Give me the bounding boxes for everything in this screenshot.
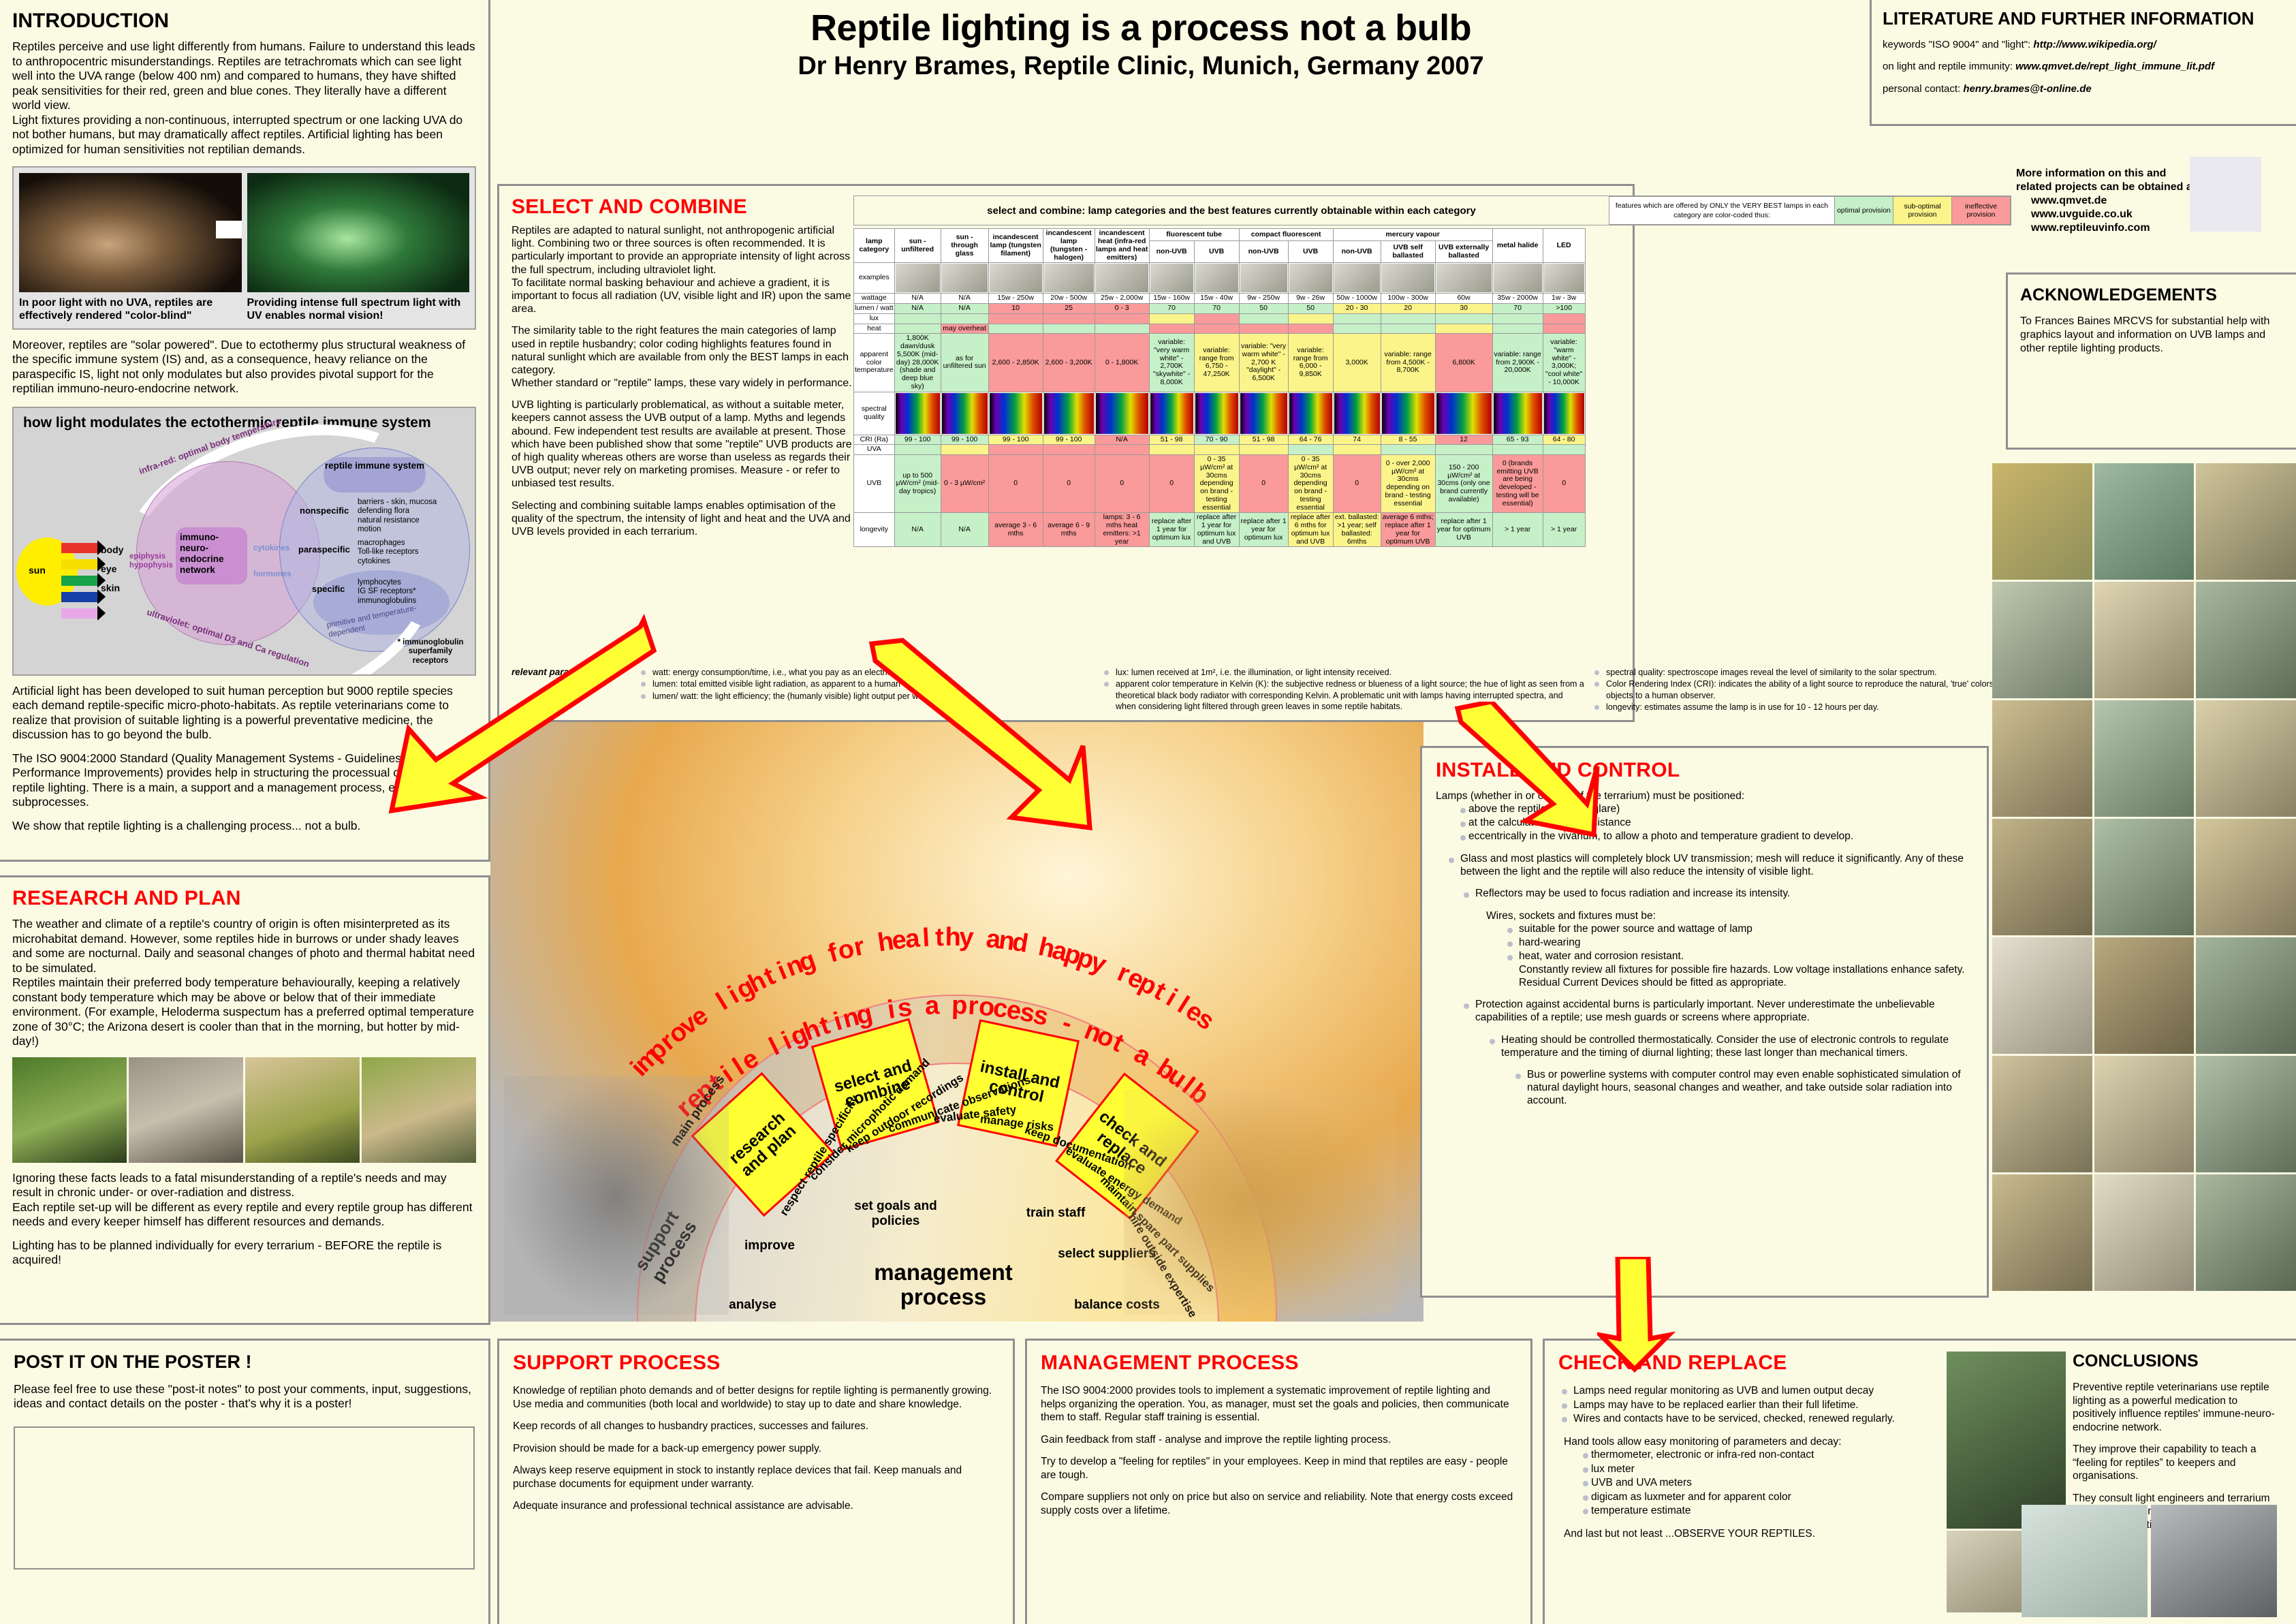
terrarium-photo xyxy=(2094,700,2195,817)
terrarium-photo xyxy=(2196,582,2296,698)
table-group-header: incandescent lamp (tungsten filament) xyxy=(988,229,1043,263)
table-cell xyxy=(1333,324,1381,334)
spectrum-image xyxy=(1381,392,1435,435)
table-cell: 70 xyxy=(1149,304,1194,314)
table-row-label: longevity xyxy=(854,513,895,547)
table-cell xyxy=(894,445,941,455)
table-row-label: examples xyxy=(854,263,895,294)
management-subprocess-label: train staff xyxy=(1005,1206,1107,1221)
meter-photo-row xyxy=(12,1057,476,1163)
table-cell: 99 - 100 xyxy=(894,435,941,445)
terrarium-photo xyxy=(2196,1056,2296,1172)
literature-line-2-label: on light and reptile immunity: xyxy=(1883,61,2013,72)
intro-paragraph-2: Light fixtures providing a non-continuou… xyxy=(12,113,476,157)
table-cell: N/A xyxy=(1095,435,1149,445)
conclusions-heading: CONCLUSIONS xyxy=(2073,1352,2277,1371)
table-cell: variable: "very warm white" - 2,700 K "d… xyxy=(1239,334,1288,392)
poster-title: Reptile lighting is a process not a bulb xyxy=(518,7,1764,49)
terrarium-photo xyxy=(1992,1056,2092,1172)
table-cell: >100 xyxy=(1543,304,1585,314)
table-cell: variable: range from 4,500K - 8,700K xyxy=(1381,334,1435,392)
table-group-header: metal halide xyxy=(1492,229,1543,263)
table-cell xyxy=(1149,313,1194,324)
table-row-label: UVA xyxy=(854,445,895,455)
check-tool-item: thermometer, electronic or infra-red non… xyxy=(1576,1448,1940,1462)
table-cell: N/A xyxy=(941,294,988,304)
support-paragraph-5: Always keep reserve equipment in stock t… xyxy=(513,1464,999,1490)
table-cell: 70 xyxy=(1194,304,1239,314)
install-bus-bullet: Bus or powerline systems with computer c… xyxy=(1512,1069,1973,1108)
lamp-example-photo xyxy=(1333,263,1381,294)
table-cell: 99 - 100 xyxy=(1043,435,1095,445)
table-cell: 20 xyxy=(1381,304,1435,314)
terrarium-photo xyxy=(2094,463,2195,580)
support-process-panel: SUPPORT PROCESS Knowledge of reptilian p… xyxy=(497,1339,1015,1624)
table-cell xyxy=(1194,324,1239,334)
support-paragraph-6: Adequate insurance and professional tech… xyxy=(513,1499,999,1513)
table-legend: features which are offered by ONLY the V… xyxy=(1609,196,2011,225)
table-group-header: sun - unfiltered xyxy=(894,229,941,263)
arrow-down-install-icon xyxy=(1420,0,1421,1)
table-cell: 50w - 1000w xyxy=(1333,294,1381,304)
support-paragraph-1: Knowledge of reptilian photo demands and… xyxy=(513,1384,999,1398)
lamp-example-photo xyxy=(894,263,941,294)
check-text-column: CHECK AND REPLACE Lamps need regular mon… xyxy=(1558,1352,1940,1612)
table-cell: 0 (brands emitting UVB are being develop… xyxy=(1492,455,1543,513)
management-process-panel: MANAGEMENT PROCESS The ISO 9004:2000 pro… xyxy=(1025,1339,1532,1624)
install-bullet: suitable for the power source and wattag… xyxy=(1504,923,1973,936)
table-cell xyxy=(1288,313,1333,324)
install-glass-bullet: Glass and most plastics will completely … xyxy=(1445,853,1973,879)
table-cell: 0 - 35 µW/cm² at 30cms depending on bran… xyxy=(1288,455,1333,513)
spectrum-image xyxy=(1239,392,1288,435)
arrow-to-install-icon xyxy=(865,637,1097,834)
table-group-header: fluorescent tube xyxy=(1149,229,1239,241)
table-group-header: incandescent lamp (tungsten - halogen) xyxy=(1043,229,1095,263)
literature-heading: LITERATURE AND FURTHER INFORMATION xyxy=(1883,8,2285,29)
spectrum-image xyxy=(1194,392,1239,435)
infrared-thermometer-photo xyxy=(245,1057,360,1163)
terrarium-photo-strip xyxy=(1992,463,2296,1291)
table-cell: 9w - 250w xyxy=(1239,294,1288,304)
terrarium-photo xyxy=(2196,463,2296,580)
postit-note-area[interactable] xyxy=(14,1426,475,1570)
table-cell: N/A xyxy=(941,304,988,314)
table-row-label: lumen / watt xyxy=(854,304,895,314)
table-cell: 2,600 - 3,200K xyxy=(1043,334,1095,392)
support-paragraph-2: Use media and communities (both local an… xyxy=(513,1398,999,1411)
table-cell xyxy=(1149,445,1194,455)
table-cell xyxy=(1543,445,1585,455)
table-cell: lamps: 3 - 6 mths heat emitters: >1 year xyxy=(1095,513,1149,547)
table-row: UVA xyxy=(854,445,1586,455)
lamp-example-photo xyxy=(1149,263,1194,294)
lamp-example-photo xyxy=(1239,263,1288,294)
reptile-line-drawing xyxy=(2190,157,2261,232)
luxmeter-photo xyxy=(12,1057,127,1163)
table-cell: 10 xyxy=(988,304,1043,314)
table-cell xyxy=(1435,324,1492,334)
table-row: UVBup to 500 µW/cm² (mid-day tropics)0 -… xyxy=(854,455,1586,513)
table-cell: 0 - over 2,000 µW/cm² at 30cms depending… xyxy=(1381,455,1435,513)
table-cell xyxy=(1381,313,1435,324)
parameter-item: Color Rendering Index (CRI): indicates t… xyxy=(1591,678,2061,701)
literature-line-3: personal contact: henry.brames@t-online.… xyxy=(1883,83,2285,95)
intro-paragraph-1: Reptiles perceive and use light differen… xyxy=(12,40,476,113)
select-paragraph-1: Reptiles are adapted to natural sunlight… xyxy=(512,224,855,277)
select-paragraph-5: UVB lighting is particularly problematic… xyxy=(512,399,855,490)
table-cell: average 3 - 6 mths xyxy=(988,513,1043,547)
table-cell xyxy=(1043,313,1095,324)
table-cell: 100w - 300w xyxy=(1381,294,1435,304)
management-process-label: management process xyxy=(851,1260,1035,1309)
gecko-dull-photo xyxy=(19,173,242,292)
iguana-right-photo xyxy=(1124,1090,1396,1315)
research-paragraph-1: The weather and climate of a reptile's c… xyxy=(12,917,476,975)
table-cell xyxy=(1043,324,1095,334)
table-cell: variable: range from 2,900K - 20,000K xyxy=(1492,334,1543,392)
table-cell xyxy=(1095,313,1149,324)
terrarium-photo xyxy=(1992,1174,2092,1291)
postit-text: Please feel free to use these "post-it n… xyxy=(14,1382,475,1411)
check-closing: And last but not least ...OBSERVE YOUR R… xyxy=(1558,1527,1940,1541)
table-cell xyxy=(1239,324,1288,334)
management-paragraph-3: Try to develop a "feeling for reptiles" … xyxy=(1041,1455,1517,1482)
table-column-header: non-UVB xyxy=(1149,241,1194,263)
table-cell: 2,600 - 2,850K xyxy=(988,334,1043,392)
immune-diagram-title: how light modulates the ectothermic rept… xyxy=(23,415,431,431)
table-cell: N/A xyxy=(894,294,941,304)
select-paragraph-6: Selecting and combining suitable lamps e… xyxy=(512,499,855,539)
literature-line-2: on light and reptile immunity: www.qmvet… xyxy=(1883,61,2285,73)
table-cell: up to 500 µW/cm² (mid-day tropics) xyxy=(894,455,941,513)
lamp-example-photo xyxy=(1435,263,1492,294)
management-paragraph-2: Gain feedback from staff - analyse and i… xyxy=(1041,1433,1517,1447)
table-cell: 0 xyxy=(1333,455,1381,513)
red-ray-icon xyxy=(61,543,98,553)
transition-arrow-icon xyxy=(216,221,242,238)
research-paragraph-4: Each reptile set-up will be different as… xyxy=(12,1200,476,1230)
table-cell: 3,000K xyxy=(1333,334,1381,392)
gecko-dull-cell: In poor light with no UVA, reptiles are … xyxy=(19,173,242,322)
table-cell xyxy=(1288,445,1333,455)
lamp-comparison-table-wrapper: select and combine: lamp categories and … xyxy=(853,196,2011,547)
support-paragraph-4: Provision should be made for a back-up e… xyxy=(513,1442,999,1456)
table-group-header: compact fluorescent xyxy=(1239,229,1333,241)
support-heading: SUPPORT PROCESS xyxy=(513,1352,999,1375)
table-group-header-row: lamp categorysun - unfilteredsun - throu… xyxy=(854,229,1586,241)
lamp-example-photo xyxy=(1492,263,1543,294)
table-row: lumen / wattN/AN/A10250 - 37070505020 - … xyxy=(854,304,1586,314)
table-row-label: UVB xyxy=(854,455,895,513)
parameters-column-3: spectral quality: spectroscope images re… xyxy=(1591,667,2061,713)
terrarium-photo xyxy=(2094,937,2195,1054)
lamp-example-photo xyxy=(988,263,1043,294)
research-heading: RESEARCH AND PLAN xyxy=(12,887,476,910)
support-paragraph-3: Keep records of all changes to husbandry… xyxy=(513,1420,999,1433)
table-cell: replace after 1 year for optimum lux xyxy=(1239,513,1288,547)
table-group-header: lamp category xyxy=(854,229,895,263)
more-info-link-2[interactable]: www.uvguide.co.uk xyxy=(2016,208,2200,221)
install-burns-bullet: Protection against accidental burns is p… xyxy=(1460,999,1973,1025)
table-cell: 1w - 3w xyxy=(1543,294,1585,304)
table-row: CRI (Ra)99 - 10099 - 10099 - 10099 - 100… xyxy=(854,435,1586,445)
literature-line-2-value[interactable]: www.qmvet.de/rept_light_immune_lit.pdf xyxy=(2015,61,2214,72)
terrarium-photo xyxy=(1992,463,2092,580)
intro-paragraph-3: Moreover, reptiles are "solar powered". … xyxy=(12,338,476,396)
table-row: spectral quality xyxy=(854,392,1586,435)
table-cell: 25 xyxy=(1043,304,1095,314)
check-tool-item: temperature estimate xyxy=(1576,1504,1940,1518)
table-cell: 65 - 93 xyxy=(1492,435,1543,445)
spectrum-image xyxy=(1288,392,1333,435)
terrarium-photo xyxy=(2196,700,2296,817)
terrarium-photo xyxy=(2196,819,2296,935)
table-cell: 50 xyxy=(1239,304,1288,314)
check-bullets: Lamps need regular monitoring as UVB and… xyxy=(1558,1384,1940,1426)
table-cell xyxy=(1435,313,1492,324)
green-ray-icon xyxy=(61,576,98,586)
install-reflector-bullet: Reflectors may be used to focus radiatio… xyxy=(1460,888,1973,901)
research-and-plan-panel: RESEARCH AND PLAN The weather and climat… xyxy=(0,875,490,1325)
install-wires-lead: Wires, sockets and fixtures must be: xyxy=(1436,910,1973,923)
table-cell: 0 - 35 µW/cm² at 30cms depending on bran… xyxy=(1194,455,1239,513)
select-text-column: SELECT AND COMBINE Reptiles are adapted … xyxy=(512,196,855,538)
select-paragraph-4: Whether standard or "reptile" lamps, the… xyxy=(512,377,855,390)
terrarium-photo xyxy=(2094,1174,2195,1291)
conclusions-paragraph-2: They improve their capability to teach a… xyxy=(2073,1443,2277,1483)
table-cell: replace after 1 year for optimum lux and… xyxy=(1194,513,1239,547)
table-column-header: UVB externally ballasted xyxy=(1435,241,1492,263)
table-row-label: wattage xyxy=(854,294,895,304)
table-cell: 15w - 40w xyxy=(1194,294,1239,304)
spectrum-image xyxy=(894,392,941,435)
table-cell xyxy=(1333,313,1381,324)
table-cell: 1,800K dawn/dusk 5,500K (mid-day) 28,000… xyxy=(894,334,941,392)
management-subprocess-label: improve xyxy=(719,1238,821,1253)
install-wires-bullets: suitable for the power source and wattag… xyxy=(1436,923,1973,963)
table-cell: 99 - 100 xyxy=(988,435,1043,445)
lamp-example-photo xyxy=(941,263,988,294)
table-cell: 35w - 2000w xyxy=(1492,294,1543,304)
terrarium-photo xyxy=(2094,1056,2195,1172)
uv-meter-device-photo xyxy=(2151,1505,2277,1617)
conclusions-paragraph-1: Preventive reptile veterinarians use rep… xyxy=(2073,1381,2277,1434)
input-label-eye: eye xyxy=(101,563,116,574)
table-cell xyxy=(1149,324,1194,334)
terrarium-photo xyxy=(1992,700,2092,817)
terrarium-photo xyxy=(1992,819,2092,935)
table-column-header: UVB self ballasted xyxy=(1381,241,1435,263)
table-cell: 70 - 90 xyxy=(1194,435,1239,445)
management-subprocess-label: set goals and policies xyxy=(845,1199,947,1229)
table-cell xyxy=(894,313,941,324)
literature-line-1-label: keywords "ISO 9004" and "light": xyxy=(1883,39,2030,50)
select-paragraph-3: The similarity table to the right featur… xyxy=(512,324,855,377)
table-cell: 15w - 160w xyxy=(1149,294,1194,304)
install-bullet: heat, water and corrosion resistant. xyxy=(1504,950,1973,963)
table-group-header: incandescent heat (infra-red lamps and h… xyxy=(1095,229,1149,263)
table-cell: 20 - 30 xyxy=(1333,304,1381,314)
yellow-ray-icon xyxy=(61,559,98,569)
terrarium-photo xyxy=(2196,937,2296,1054)
table-cell xyxy=(1492,445,1543,455)
table-cell: ext. ballasted: >1 year; self ballasted:… xyxy=(1333,513,1381,547)
gecko-comparison-figure: In poor light with no UVA, reptiles are … xyxy=(12,166,476,329)
table-cell: 0 - 3 xyxy=(1095,304,1149,314)
table-group-header: sun - through glass xyxy=(941,229,988,263)
terrarium-photo xyxy=(2094,582,2195,698)
table-cell: 64 - 76 xyxy=(1288,435,1333,445)
table-cell xyxy=(1543,324,1585,334)
table-group-header: LED xyxy=(1543,229,1585,263)
table-cell: 0 xyxy=(988,455,1043,513)
acknowledgements-panel: ACKNOWLEDGEMENTS To Frances Baines MRCVS… xyxy=(2006,272,2296,450)
literature-line-3-label: personal contact: xyxy=(1883,83,1960,95)
table-cell xyxy=(1194,313,1239,324)
lamp-example-photo xyxy=(1543,263,1585,294)
table-cell xyxy=(1543,313,1585,324)
legend-suboptimal: sub-optimal provision xyxy=(1893,197,1951,224)
install-heating-bullet: Heating should be controlled thermostati… xyxy=(1486,1034,1973,1060)
lamp-example-photo xyxy=(1194,263,1239,294)
gecko-bright-photo xyxy=(247,173,470,292)
arrow-to-research-icon xyxy=(371,613,657,817)
parameter-item: lux: lumen received at 1m², i.e. the ill… xyxy=(1101,667,1584,678)
table-cell: N/A xyxy=(894,304,941,314)
legend-optimal: optimal provision xyxy=(1834,197,1893,224)
table-cell: replace after 1 year for optimum UVB xyxy=(1435,513,1492,547)
table-cell: 0 - 1,800K xyxy=(1095,334,1149,392)
table-cell: 9w - 26w xyxy=(1288,294,1333,304)
table-cell: variable: "very warm white" - 2,700K "sk… xyxy=(1149,334,1194,392)
spectrum-image xyxy=(941,392,988,435)
table-cell xyxy=(988,445,1043,455)
table-cell xyxy=(1043,445,1095,455)
table-row: lux xyxy=(854,313,1586,324)
table-row: examples xyxy=(854,263,1586,294)
check-tool-item: digicam as luxmeter and for apparent col… xyxy=(1576,1490,1940,1504)
table-row-label: heat xyxy=(854,324,895,334)
check-tool-item: lux meter xyxy=(1576,1463,1940,1476)
intro-paragraph-6: We show that reptile lighting is a chall… xyxy=(12,819,476,834)
table-row-label: CRI (Ra) xyxy=(854,435,895,445)
table-row-label: lux xyxy=(854,313,895,324)
table-group-header: mercury vapour xyxy=(1333,229,1492,241)
table-cell: N/A xyxy=(941,513,988,547)
table-cell: 70 xyxy=(1492,304,1543,314)
spectrum-image xyxy=(1333,392,1381,435)
table-cell: may overheat xyxy=(941,324,988,334)
table-cell xyxy=(894,324,941,334)
terrarium-photo xyxy=(1992,937,2092,1054)
input-label-body: body xyxy=(101,544,123,555)
acknowledgements-heading: ACKNOWLEDGEMENTS xyxy=(2020,285,2284,305)
table-cell: variable: range from 6,000 - 9,850K xyxy=(1288,334,1333,392)
table-cell: 20w - 500w xyxy=(1043,294,1095,304)
select-heading: SELECT AND COMBINE xyxy=(512,196,855,219)
arrow-install-down-icon xyxy=(1451,702,1601,838)
gecko-bright-caption: Providing intense full spectrum light wi… xyxy=(247,296,470,322)
spectrum-image xyxy=(1149,392,1194,435)
lamp-example-photo xyxy=(1288,263,1333,294)
arrow-to-check-icon xyxy=(1597,1257,1679,1373)
management-paragraph-4: Compare suppliers not only on price but … xyxy=(1041,1490,1517,1517)
table-cell: 0 xyxy=(1095,455,1149,513)
lamp-example-photo xyxy=(1043,263,1095,294)
table-row: longevityN/AN/Aaverage 3 - 6 mthsaverage… xyxy=(854,513,1586,547)
select-paragraph-2: To facilitate normal basking behaviour a… xyxy=(512,277,855,316)
blue-ray-icon xyxy=(61,592,98,602)
table-cell: 51 - 98 xyxy=(1239,435,1288,445)
lamp-comparison-table: lamp categorysun - unfilteredsun - throu… xyxy=(853,228,1586,547)
literature-line-1: keywords "ISO 9004" and "light": http://… xyxy=(1883,39,2285,51)
table-cell xyxy=(941,313,988,324)
check-tool-item: UVB and UVA meters xyxy=(1576,1476,1940,1490)
introduction-heading: INTRODUCTION xyxy=(12,10,476,33)
table-cell: 12 xyxy=(1435,435,1492,445)
install-bullet: hard-wearing xyxy=(1504,937,1973,950)
table-cell xyxy=(988,313,1043,324)
table-cell: 64 - 80 xyxy=(1543,435,1585,445)
table-cell: 0 xyxy=(1543,455,1585,513)
table-title: select and combine: lamp categories and … xyxy=(854,198,1609,223)
table-cell xyxy=(1381,445,1435,455)
table-cell: 0 xyxy=(1149,455,1194,513)
table-row: heatmay overheat xyxy=(854,324,1586,334)
parameter-item: longevity: estimates assume the lamp is … xyxy=(1591,702,2061,713)
literature-line-3-value[interactable]: henry.brames@t-online.de xyxy=(1963,83,2091,95)
table-cell: 99 - 100 xyxy=(941,435,988,445)
violet-ray-icon xyxy=(61,608,98,619)
table-column-header: UVB xyxy=(1194,241,1239,263)
terrarium-photo xyxy=(2094,819,2195,935)
legend-ineffective: ineffective provision xyxy=(1951,197,2010,224)
table-cell: replace after 6 mths for optimum lux and… xyxy=(1288,513,1333,547)
table-cell: 30 xyxy=(1435,304,1492,314)
spectrum-image xyxy=(1543,392,1585,435)
table-cell: 0 xyxy=(1043,455,1095,513)
check-bullet: Lamps may have to be replaced earlier th… xyxy=(1558,1399,1940,1412)
more-info-link-1[interactable]: www.qmvet.de xyxy=(2016,194,2200,208)
table-row: apparent color temperature1,800K dawn/du… xyxy=(854,334,1586,392)
relevant-parameters-block: relevant parameters: watt: energy consum… xyxy=(512,667,2098,713)
table-cell xyxy=(1095,445,1149,455)
acknowledgements-text: To Frances Baines MRCVS for substantial … xyxy=(2020,315,2284,356)
input-label-skin: skin xyxy=(101,582,120,593)
management-paragraph-1: The ISO 9004:2000 provides tools to impl… xyxy=(1041,1384,1517,1424)
table-cell: average 6 - 9 mths xyxy=(1043,513,1095,547)
table-cell xyxy=(1239,445,1288,455)
more-info-link-3[interactable]: www.reptileuvinfo.com xyxy=(2016,221,2200,235)
uvmeter-photo xyxy=(129,1057,243,1163)
table-cell: 15w - 250w xyxy=(988,294,1043,304)
table-cell: 0 xyxy=(1239,455,1288,513)
digital-thermometer-photo xyxy=(2022,1505,2148,1617)
table-column-header: non-UVB xyxy=(1239,241,1288,263)
table-cell xyxy=(1381,324,1435,334)
post-it-panel: POST IT ON THE POSTER ! Please feel free… xyxy=(0,1339,490,1624)
check-tools-lead: Hand tools allow easy monitoring of para… xyxy=(1558,1435,1940,1449)
table-cell: variable: "warm white" - 3,000K; "cool w… xyxy=(1543,334,1585,392)
table-cell: average 6 mths; replace after 1 year for… xyxy=(1381,513,1435,547)
check-tools-bullets: thermometer, electronic or infra-red non… xyxy=(1558,1448,1940,1518)
table-cell: variable: range from 6,750 - 47,250K xyxy=(1194,334,1239,392)
table-cell xyxy=(1194,445,1239,455)
literature-line-1-value[interactable]: http://www.wikipedia.org/ xyxy=(2033,39,2156,50)
table-cell xyxy=(1435,445,1492,455)
research-paragraph-3: Ignoring these facts leads to a fatal mi… xyxy=(12,1171,476,1200)
